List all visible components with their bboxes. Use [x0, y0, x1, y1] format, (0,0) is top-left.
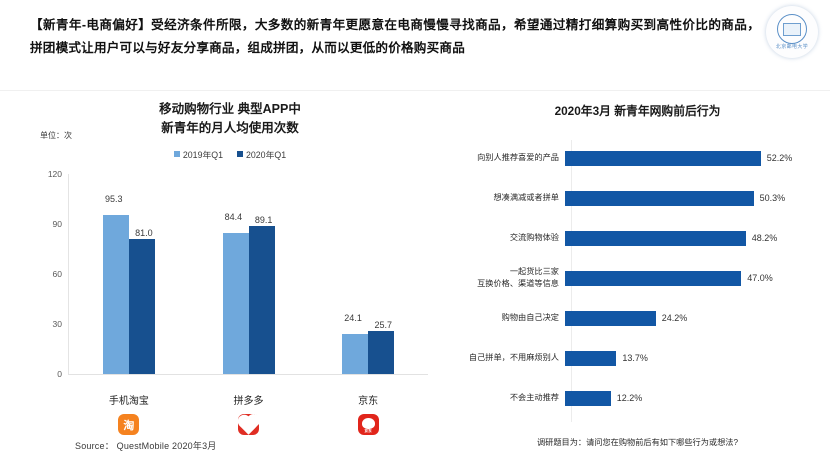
behavior-bar-zone: 52.2% [565, 138, 830, 178]
bar-rect [368, 331, 394, 374]
bar-3-2020年Q1[interactable]: 25.7 [368, 174, 394, 374]
bar-value-label: 81.0 [135, 228, 153, 238]
right-chart-title: 2020年3月 新青年网购前后行为 [445, 92, 830, 120]
bar-value-label: 24.1 [344, 313, 362, 323]
behavior-bar-zone: 50.3% [565, 178, 830, 218]
legend-label-2020: 2020年Q1 [246, 148, 286, 161]
behavior-bar-zone: 13.7% [565, 338, 830, 378]
seal-inner-mark [783, 23, 801, 36]
bar-rect [342, 334, 368, 374]
header-block: 【新青年-电商偏好】受经济条件所限，大多数的新青年更愿意在电商慢慢寻找商品，希望… [0, 0, 830, 90]
left-chart-plot-area: 0306090120 95.381.084.489.124.125.7 [40, 174, 430, 389]
legend-label-2019: 2019年Q1 [183, 148, 223, 161]
behavior-value-label: 24.2% [662, 313, 688, 323]
y-axis-ticks: 0306090120 [40, 174, 66, 374]
behavior-bar-zone: 47.0% [565, 258, 830, 298]
unit-label: 单位：次 [40, 130, 72, 141]
behavior-row-1[interactable]: 向别人推荐喜爱的产品52.2% [445, 138, 830, 178]
left-chart-panel: 单位：次 移动购物行业 典型APP中 新青年的月人均使用次数 2019年Q1 2… [20, 92, 440, 467]
behavior-row-6[interactable]: 自己拼单，不用麻烦别人13.7% [445, 338, 830, 378]
behavior-label: 向别人推荐喜爱的产品 [445, 152, 565, 164]
pinduoduo-icon[interactable] [238, 414, 259, 435]
behavior-row-5[interactable]: 购物由自己决定24.2% [445, 298, 830, 338]
behavior-bar-zone: 12.2% [565, 378, 830, 418]
source-note: Source： QuestMobile 2020年3月 [75, 439, 216, 452]
left-chart-legend: 2019年Q1 2020年Q1 [20, 148, 440, 161]
legend-swatch-2020 [237, 151, 243, 157]
left-chart-title-line1: 移动购物行业 典型APP中 [80, 100, 380, 119]
x-category-name: 拼多多 [189, 392, 309, 407]
behavior-label: 交流购物体验 [445, 232, 565, 244]
behavior-row-4[interactable]: 一起货比三家互换价格、渠道等信息47.0% [445, 258, 830, 298]
behavior-label: 不会主动推荐 [445, 392, 565, 404]
bar-1-2019年Q1[interactable]: 95.3 [103, 174, 129, 374]
behavior-value-label: 12.2% [617, 393, 643, 403]
bar-rect [249, 226, 275, 375]
y-tick-30: 30 [53, 319, 62, 329]
behavior-bar-rect [565, 391, 611, 406]
x-axis-category-labels: 手机淘宝淘拼多多京东京东 [69, 392, 428, 435]
header-divider [0, 90, 830, 91]
heart-shape [239, 416, 257, 434]
jingdong-icon[interactable]: 京东 [358, 414, 379, 435]
vertical-bars-container: 95.381.084.489.124.125.7 [69, 174, 428, 374]
behavior-label: 自己拼单，不用麻烦别人 [445, 352, 565, 364]
seal-caption: 北京邮电大学 [766, 43, 818, 50]
legend-swatch-2019 [174, 151, 180, 157]
bar-group-3: 24.125.7 [308, 174, 428, 374]
behavior-bar-rect [565, 151, 761, 166]
bar-value-label: 25.7 [375, 320, 393, 330]
behavior-value-label: 52.2% [767, 153, 793, 163]
icon-sub-label: 京东 [364, 429, 372, 434]
x-category-name: 手机淘宝 [69, 392, 189, 407]
bar-value-label: 84.4 [225, 212, 243, 222]
y-tick-60: 60 [53, 269, 62, 279]
left-chart-title: 移动购物行业 典型APP中 新青年的月人均使用次数 [20, 92, 440, 139]
behavior-bar-rect [565, 311, 656, 326]
legend-item-2019[interactable]: 2019年Q1 [174, 148, 223, 161]
bar-1-2020年Q1[interactable]: 81.0 [129, 174, 155, 374]
behavior-value-label: 13.7% [622, 353, 648, 363]
bar-2-2020年Q1[interactable]: 89.1 [249, 174, 275, 374]
x-axis-line [68, 374, 428, 375]
left-chart-title-line2: 新青年的月人均使用次数 [80, 119, 380, 138]
behavior-label: 购物由自己决定 [445, 312, 565, 324]
x-label-col-1: 手机淘宝淘 [69, 392, 189, 435]
behavior-bar-rect [565, 191, 754, 206]
behavior-label: 想凑满减或者拼单 [445, 192, 565, 204]
behavior-bar-rect [565, 271, 741, 286]
bar-3-2019年Q1[interactable]: 24.1 [342, 174, 368, 374]
x-label-col-3: 京东京东 [308, 392, 428, 435]
slide-canvas: 【新青年-电商偏好】受经济条件所限，大多数的新青年更愿意在电商慢慢寻找商品，希望… [0, 0, 830, 467]
behavior-value-label: 50.3% [760, 193, 786, 203]
x-label-col-2: 拼多多 [189, 392, 309, 435]
bar-rect [223, 233, 249, 374]
bar-value-label: 95.3 [105, 194, 123, 204]
taobao-icon[interactable]: 淘 [118, 414, 139, 435]
legend-item-2020[interactable]: 2020年Q1 [237, 148, 286, 161]
survey-question-note: 调研题目为：请问您在购物前后有如下哪些行为或想法? [445, 436, 830, 448]
bar-group-2: 84.489.1 [189, 174, 309, 374]
bar-group-1: 95.381.0 [69, 174, 189, 374]
behavior-bar-rect [565, 231, 746, 246]
x-category-name: 京东 [308, 392, 428, 407]
behavior-value-label: 47.0% [747, 273, 773, 283]
behavior-row-3[interactable]: 交流购物体验48.2% [445, 218, 830, 258]
behavior-value-label: 48.2% [752, 233, 778, 243]
behavior-bar-zone: 24.2% [565, 298, 830, 338]
behavior-row-7[interactable]: 不会主动推荐12.2% [445, 378, 830, 418]
bar-2-2019年Q1[interactable]: 84.4 [223, 174, 249, 374]
university-seal-logo: 北京邮电大学 [766, 6, 818, 58]
y-tick-0: 0 [57, 369, 62, 379]
seal-ring [777, 14, 807, 44]
header-description: 【新青年-电商偏好】受经济条件所限，大多数的新青年更愿意在电商慢慢寻找商品，希望… [30, 14, 760, 60]
right-chart-plot-area: 向别人推荐喜爱的产品52.2%想凑满减或者拼单50.3%交流购物体验48.2%一… [445, 134, 830, 429]
y-tick-120: 120 [48, 169, 62, 179]
behavior-bar-zone: 48.2% [565, 218, 830, 258]
dog-mascot-shape [362, 418, 375, 429]
behavior-row-2[interactable]: 想凑满减或者拼单50.3% [445, 178, 830, 218]
right-chart-panel: 2020年3月 新青年网购前后行为 向别人推荐喜爱的产品52.2%想凑满减或者拼… [445, 92, 830, 467]
bar-value-label: 89.1 [255, 215, 273, 225]
behavior-bar-rect [565, 351, 616, 366]
y-tick-90: 90 [53, 219, 62, 229]
behavior-label: 一起货比三家互换价格、渠道等信息 [445, 266, 565, 290]
bar-rect [129, 239, 155, 374]
bar-rect [103, 215, 129, 374]
